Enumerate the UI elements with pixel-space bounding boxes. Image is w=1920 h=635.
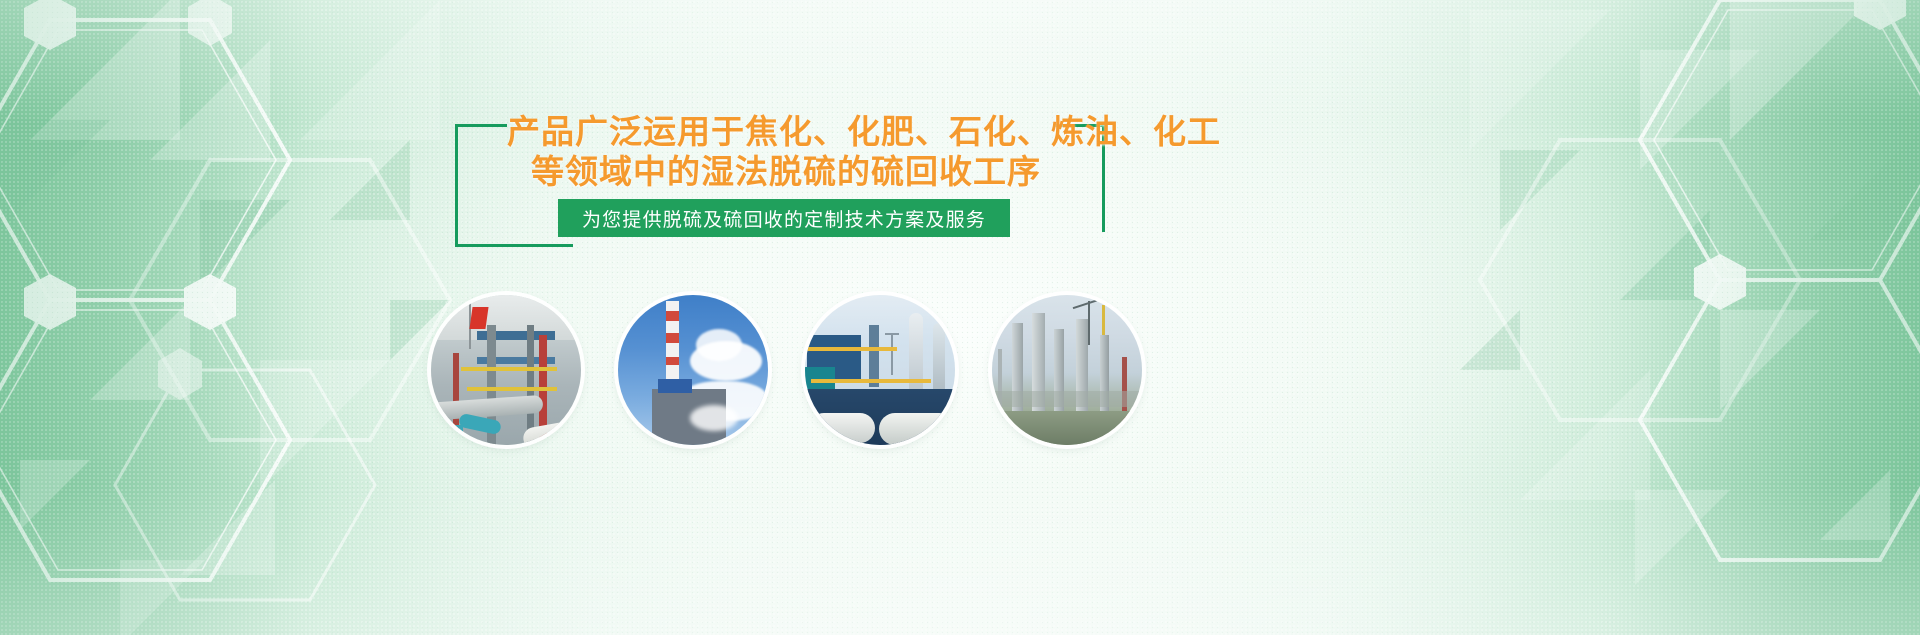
bracket-bottom-rule: [455, 244, 573, 247]
photo-circle-row: [0, 295, 1920, 445]
subtitle-text: 为您提供脱硫及硫回收的定制技术方案及服务: [582, 205, 986, 232]
headline-line-2: 等领域中的湿法脱硫的硫回收工序: [507, 152, 1065, 192]
photo-refinery-towers[interactable]: [992, 295, 1142, 445]
bracket-top-left-segment: [455, 124, 507, 127]
bracket-left-rule: [455, 124, 458, 247]
promo-banner: 产品广泛运用于焦化、化肥、石化、炼油、化工 等领域中的湿法脱硫的硫回收工序 为您…: [0, 0, 1920, 635]
photo-desulfurization-unit-image: [805, 295, 955, 445]
photo-refinery-towers-image: [992, 295, 1142, 445]
photo-chemical-plant-piping[interactable]: [431, 295, 581, 445]
subtitle-bar: 为您提供脱硫及硫回收的定制技术方案及服务: [558, 199, 1010, 237]
photo-chimney-blue-sky-image: [618, 295, 768, 445]
headline-line-1: 产品广泛运用于焦化、化肥、石化、炼油、化工: [507, 112, 1065, 152]
page-title: 产品广泛运用于焦化、化肥、石化、炼油、化工 等领域中的湿法脱硫的硫回收工序: [507, 112, 1065, 192]
photo-chemical-plant-piping-image: [431, 295, 581, 445]
photo-chimney-blue-sky[interactable]: [618, 295, 768, 445]
photo-desulfurization-unit[interactable]: [805, 295, 955, 445]
